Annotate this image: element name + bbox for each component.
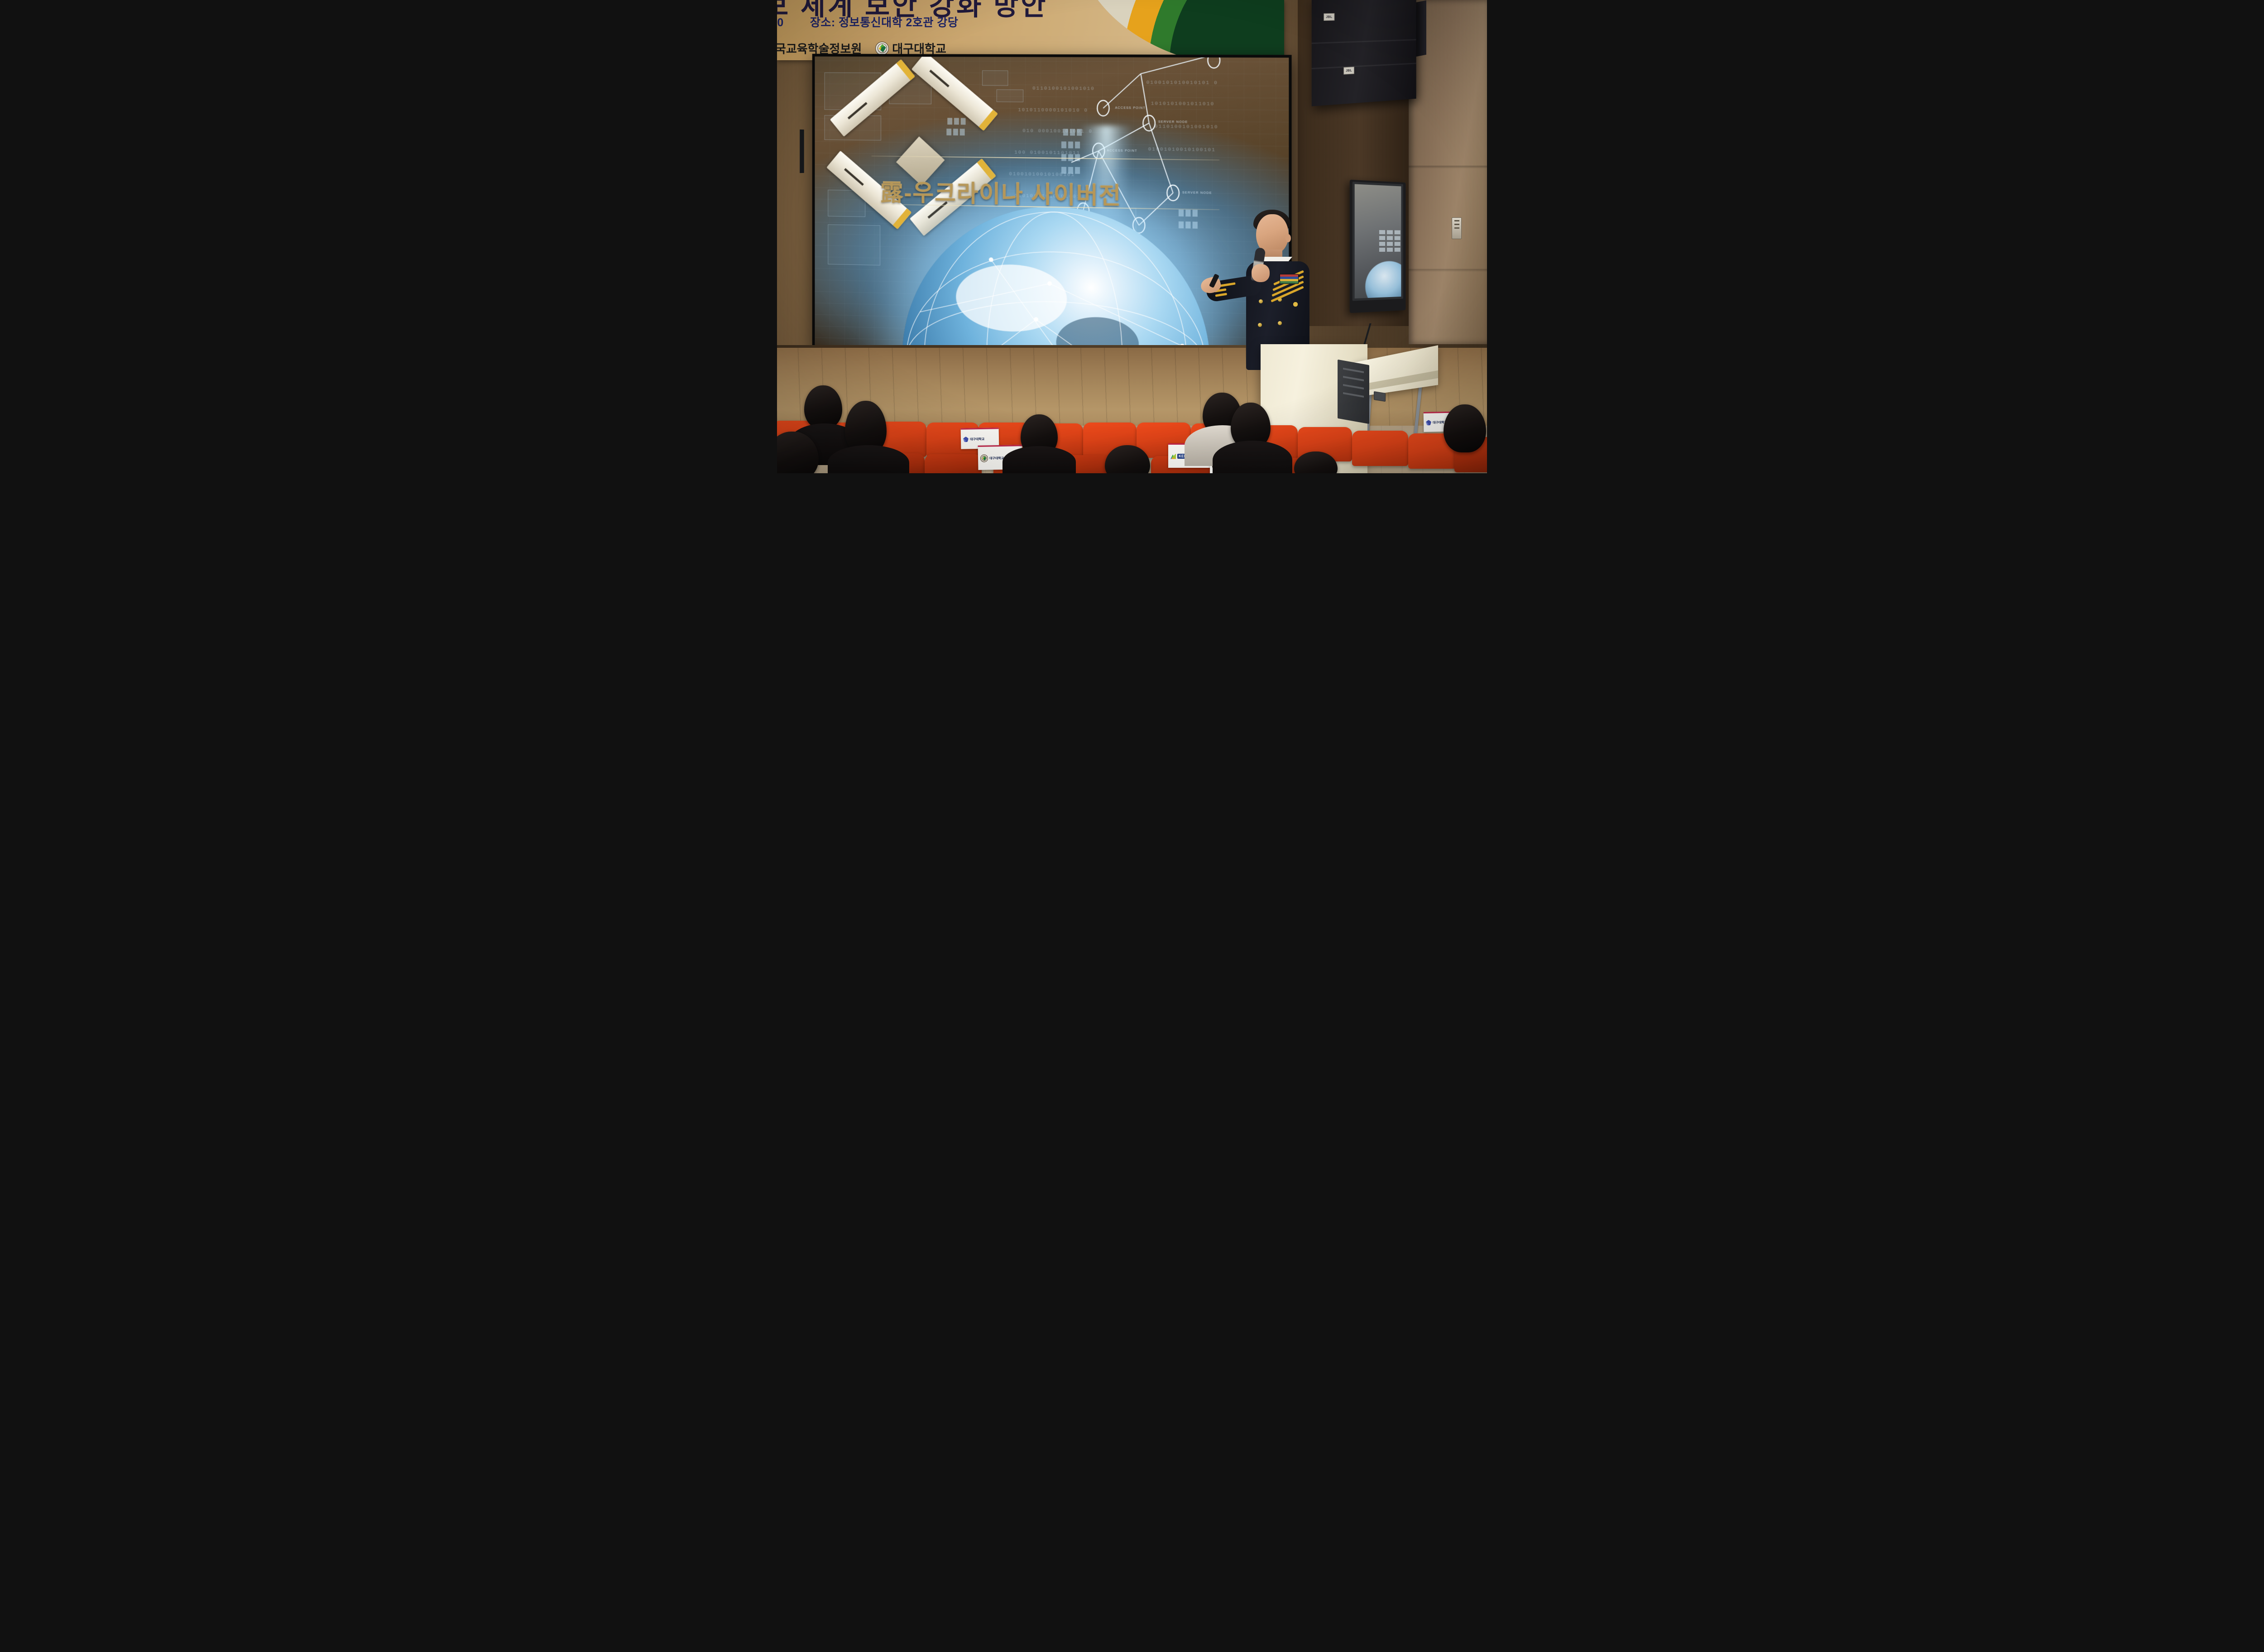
network-node-label: SERVER NODE — [1158, 120, 1188, 124]
banner-corner-graphic — [1075, 0, 1284, 60]
event-banner: 보 체계 보안 강화 방안 00장소: 정보통신대학 2호관 강당 한국교육학술… — [777, 0, 1284, 60]
confidence-monitor — [1350, 180, 1406, 313]
audience-shoulders — [1002, 446, 1076, 473]
monitor-screen — [1355, 184, 1401, 298]
wall-control-plate — [1452, 217, 1462, 239]
earth-globe-graphic — [902, 204, 1210, 363]
banner-venue-line: 00장소: 정보통신대학 2호관 강당 — [777, 14, 958, 30]
presenter-rank-emblem — [1291, 300, 1300, 308]
jbl-logo-icon: JBL — [1343, 67, 1354, 74]
monitor-mirrored-hud — [1379, 230, 1401, 252]
presenter-mic-hand — [1252, 264, 1270, 282]
seat-sign-label: 대구대학교 — [989, 456, 1004, 461]
monitor-bezel — [1353, 182, 1403, 301]
globe-network-mesh — [902, 204, 1210, 363]
auditorium-presentation-photo: JBL JBL 보 체계 보안 강화 방안 00장소: 정보통신대학 2호관 강… — [777, 0, 1487, 473]
seat — [1352, 431, 1408, 466]
banner-time-fragment: 00 — [777, 16, 784, 29]
lectern-button[interactable] — [1374, 391, 1386, 402]
education-logo-icon — [963, 437, 969, 442]
jbl-speaker-cabinet: JBL JBL — [1312, 0, 1416, 106]
monitor-stand — [800, 130, 804, 173]
daegu-university-logo-icon — [980, 454, 988, 462]
banner-venue-text: 장소: 정보통신대학 2호관 강당 — [810, 16, 959, 29]
audience-head — [804, 385, 842, 429]
seat-sign-label: 대구대학교 — [970, 437, 984, 442]
presenter-ribbon-bar — [1280, 274, 1299, 284]
audience-head — [1444, 404, 1486, 452]
seat — [925, 454, 982, 473]
network-node-label: ACCESS POINT — [1115, 106, 1146, 110]
education-logo-icon — [1426, 420, 1431, 425]
monitor-mirrored-globe — [1365, 261, 1401, 298]
audience-seating: 대구대학교 대구대학교 KERIS 한국교육학술정보원 대구대학교 대구대학교 — [777, 410, 1487, 473]
daegu-university-logo-icon — [875, 42, 889, 55]
network-node-label: SERVER NODE — [1182, 191, 1212, 195]
jbl-logo-icon: JBL — [1324, 13, 1334, 21]
monitor-foot — [1362, 323, 1428, 351]
solar-panel — [911, 57, 998, 131]
solar-panel — [830, 59, 915, 137]
keris-swoosh-icon — [1170, 454, 1176, 459]
